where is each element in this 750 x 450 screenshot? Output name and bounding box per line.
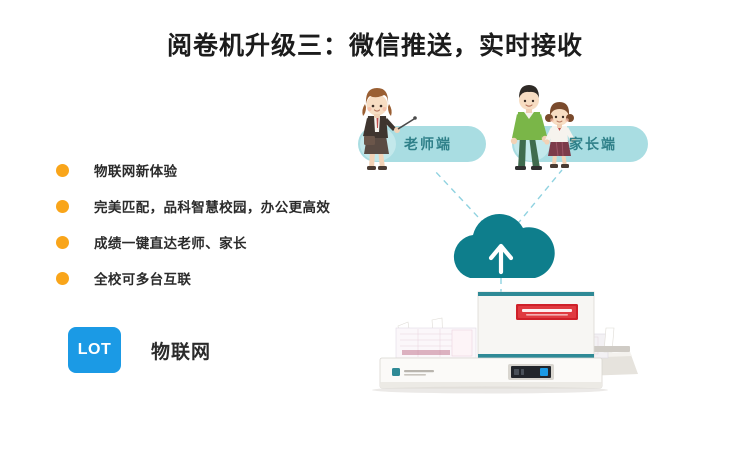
bullet-text: 全校可多台互联 — [94, 268, 191, 288]
teacher-pill-label: 老师端 — [404, 136, 452, 152]
list-item: 完美匹配，品科智慧校园，办公更高效 — [56, 188, 366, 224]
iot-badge: LOT — [68, 327, 121, 373]
list-item: 全校可多台互联 — [56, 260, 366, 296]
bullet-dot-icon — [56, 164, 69, 177]
bullet-text: 物联网新体验 — [94, 160, 177, 180]
cloud-upload-icon[interactable] — [454, 214, 555, 278]
list-item: 成绩一键直达老师、家长 — [56, 224, 366, 260]
page-title: 阅卷机升级三：微信推送，实时接收 — [0, 26, 750, 62]
iot-label: 物联网 — [151, 337, 211, 364]
iot-badge-block: LOT 物联网 — [68, 327, 211, 373]
list-item: 物联网新体验 — [56, 152, 366, 188]
feature-bullet-list: 物联网新体验 完美匹配，品科智慧校园，办公更高效 成绩一键直达老师、家长 全校可… — [56, 152, 366, 296]
node-teacher[interactable]: 老师端 — [358, 88, 486, 170]
node-parent[interactable]: 家长端 — [511, 85, 648, 170]
iot-diagram: 老师端 — [330, 78, 730, 418]
bullet-dot-icon — [56, 272, 69, 285]
bullet-text: 完美匹配，品科智慧校园，办公更高效 — [94, 196, 330, 216]
omr-scanner-machine[interactable] — [372, 292, 638, 394]
bullet-text: 成绩一键直达老师、家长 — [94, 232, 247, 252]
bullet-dot-icon — [56, 236, 69, 249]
bullet-dot-icon — [56, 200, 69, 213]
parent-pill-label: 家长端 — [569, 136, 617, 152]
